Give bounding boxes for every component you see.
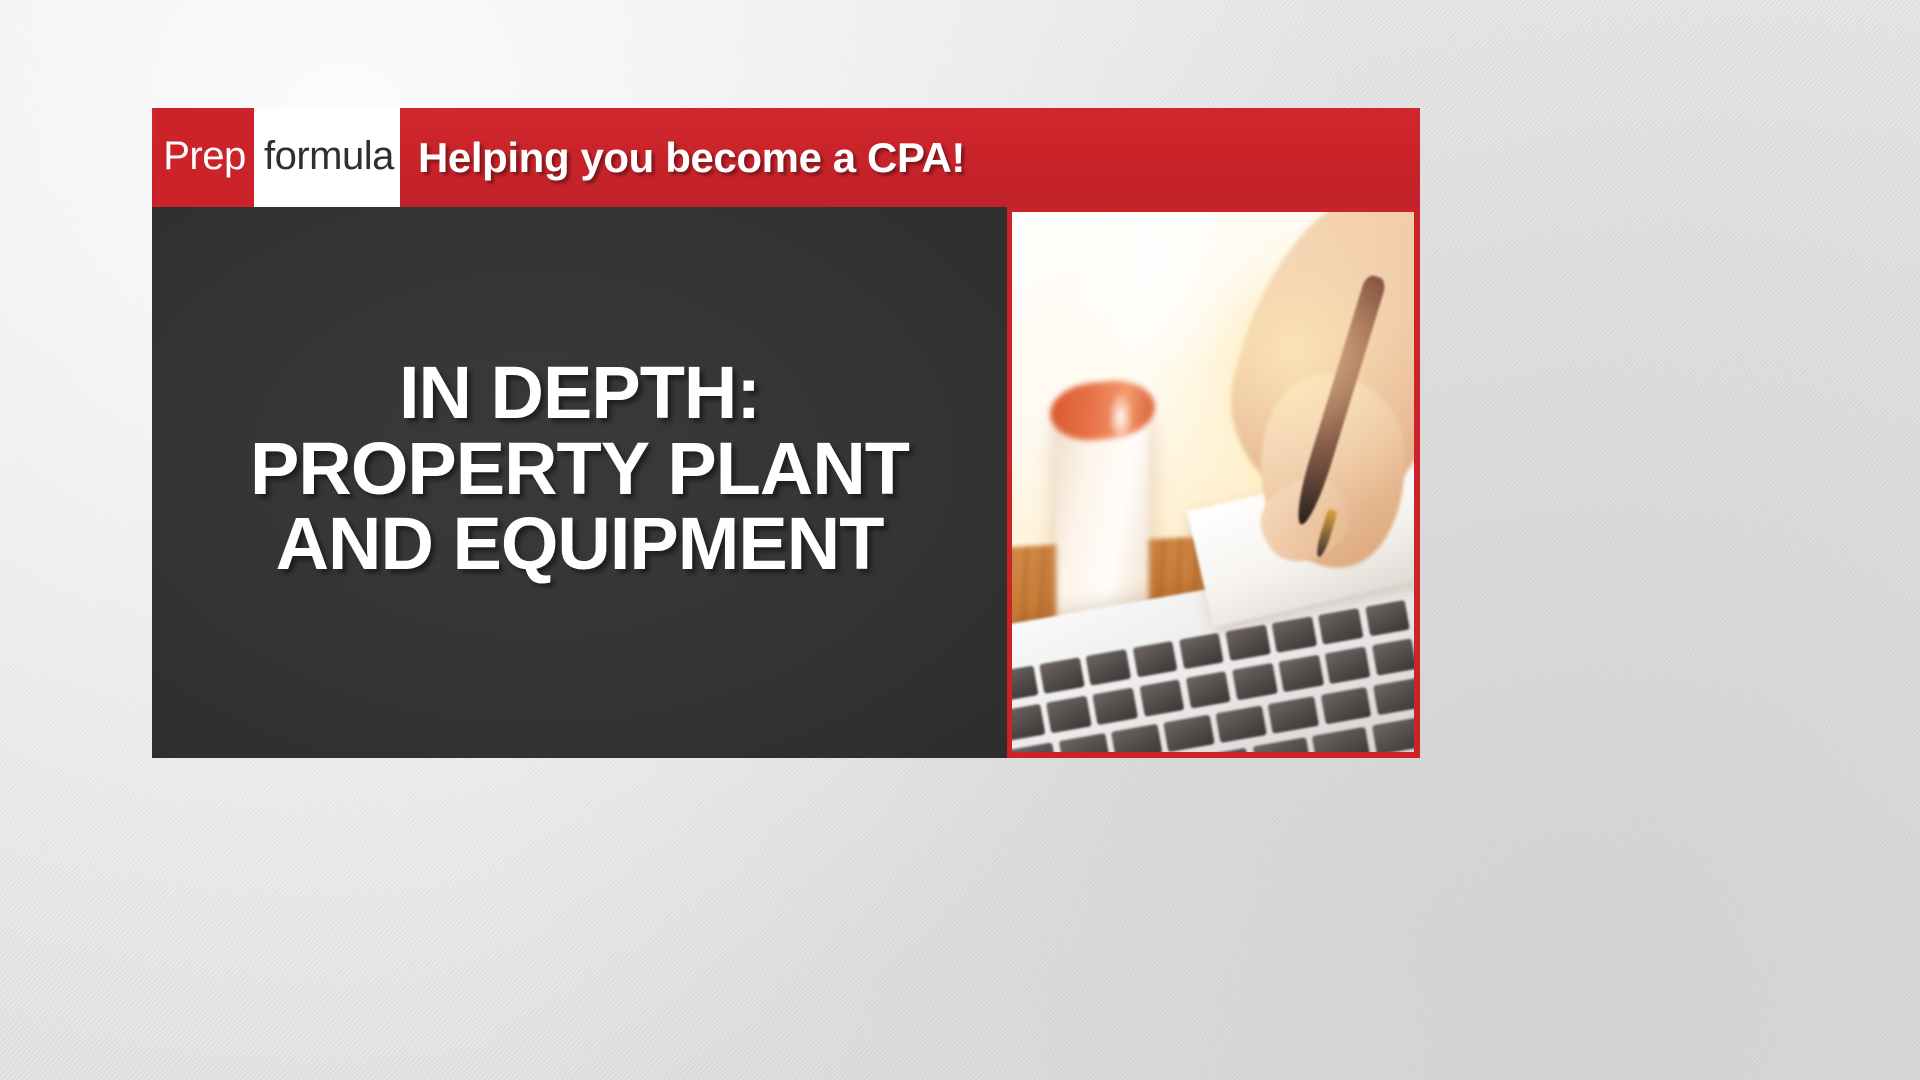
title-line-2: PROPERTY PLANT (250, 431, 909, 506)
logo-prep-mark: Prep (155, 108, 254, 207)
slide-title: IN DEPTH: PROPERTY PLANT AND EQUIPMENT (250, 355, 909, 609)
title-line-3: AND EQUIPMENT (250, 506, 909, 581)
tagline-text: Helping you become a CPA! (418, 134, 965, 182)
brand-logo[interactable]: Prep formula (155, 108, 400, 207)
desk-photo (1012, 212, 1414, 752)
title-panel: IN DEPTH: PROPERTY PLANT AND EQUIPMENT (152, 207, 1007, 758)
logo-formula-word: formula (254, 134, 394, 181)
slide-card: Helping you become a CPA! Prep formula I… (152, 108, 1420, 758)
header-band: Helping you become a CPA! Prep formula (152, 108, 1420, 207)
title-line-1: IN DEPTH: (250, 355, 909, 430)
slide-body: IN DEPTH: PROPERTY PLANT AND EQUIPMENT (152, 207, 1420, 758)
coffee-cup-highlight (1108, 390, 1132, 444)
photo-frame (1007, 207, 1420, 758)
